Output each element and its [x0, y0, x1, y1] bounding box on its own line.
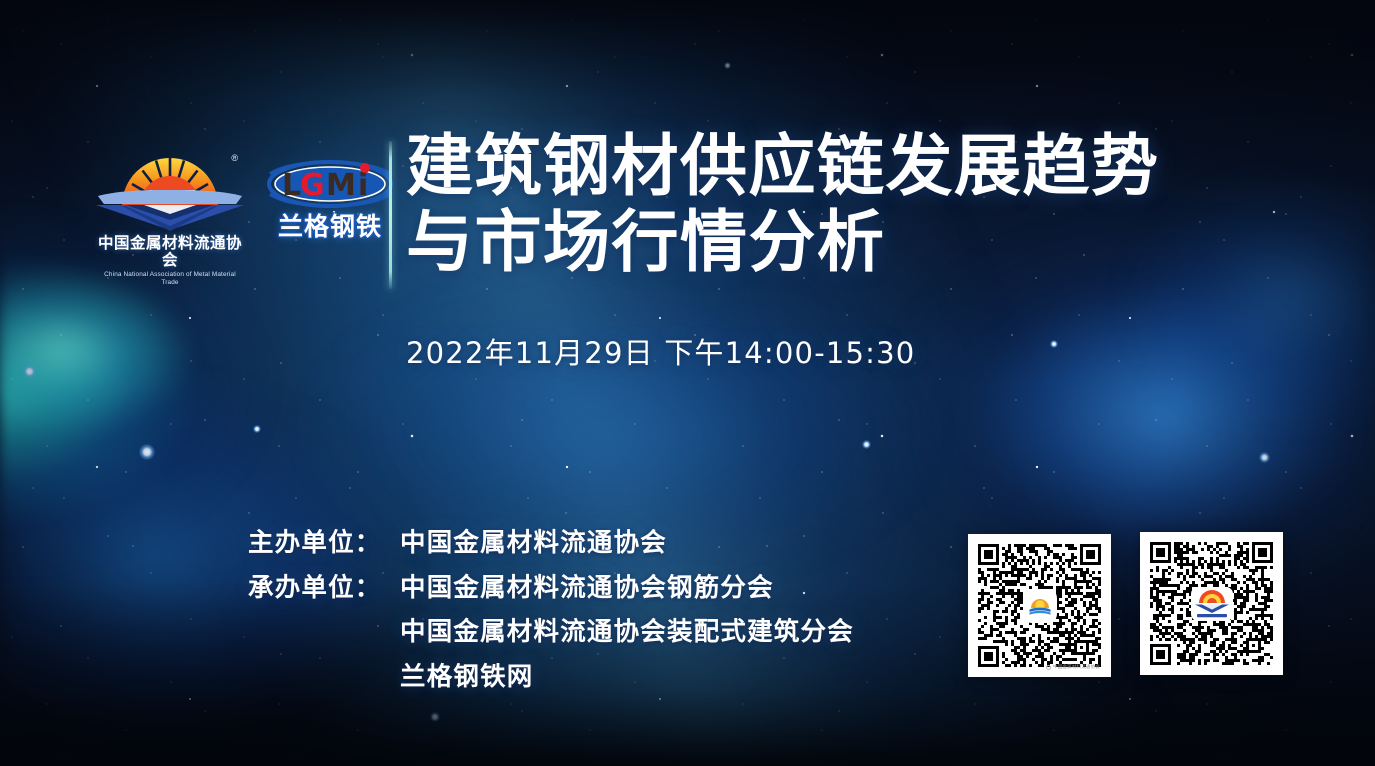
qr-watermark-dot	[1046, 665, 1051, 670]
camt-name-cn: 中国金属材料流通协会	[96, 235, 244, 269]
page-title: 建筑钢材供应链发展趋势 与市场行情分析	[406, 128, 1266, 280]
camt-mark: CAMT ®	[96, 148, 244, 232]
organizer-label: 承办单位：	[248, 566, 400, 611]
organizer-value: 兰格钢铁网	[400, 655, 534, 700]
lgmi-mark: L G M i	[266, 154, 394, 212]
qr-code-left[interactable]: 中国金属材料流通协会	[968, 534, 1111, 677]
svg-text:L: L	[282, 168, 301, 203]
registered-mark: ®	[231, 154, 238, 163]
logo-group: CAMT ® 中国金属材料流通协会 China National Associa…	[96, 148, 394, 288]
event-datetime: 2022年11月29日 下午14:00-15:30	[406, 330, 915, 372]
camt-logo: CAMT ® 中国金属材料流通协会 China National Associa…	[96, 148, 244, 288]
wing-chevron-icon	[96, 190, 244, 232]
lgmi-name-cn: 兰格钢铁	[266, 214, 394, 240]
organizer-value: 中国金属材料流通协会装配式建筑分会	[400, 610, 854, 655]
qr-center-logo-lgmi	[1025, 591, 1055, 621]
qr-center-logo-camt	[1193, 589, 1231, 619]
svg-text:M: M	[326, 168, 356, 203]
svg-text:G: G	[300, 168, 325, 203]
organizer-label: 主办单位：	[248, 521, 400, 566]
camt-icon	[1194, 590, 1230, 618]
organizer-value: 中国金属材料流通协会	[400, 521, 667, 566]
organizer-list: 主办单位： 中国金属材料流通协会 承办单位： 中国金属材料流通协会钢筋分会 中国…	[248, 521, 948, 699]
lgmi-sun-icon	[1028, 594, 1052, 618]
organizer-row: 中国金属材料流通协会装配式建筑分会	[248, 610, 948, 655]
qr-code-right-wrapper[interactable]	[1140, 532, 1283, 675]
qr-code-right[interactable]	[1140, 532, 1283, 675]
qr-watermark: 中国金属材料流通协会	[1046, 664, 1100, 670]
organizer-row: 兰格钢铁网	[248, 655, 948, 700]
qr-watermark-text: 中国金属材料流通协会	[1053, 664, 1100, 670]
title-line-1: 建筑钢材供应链发展趋势	[406, 128, 1266, 204]
event-poster: CAMT ® 中国金属材料流通协会 China National Associa…	[0, 0, 1375, 766]
title-line-2: 与市场行情分析	[406, 204, 1266, 280]
lgmi-logo: L G M i 兰格钢铁	[266, 148, 394, 240]
svg-text:i: i	[358, 168, 368, 203]
lgmi-wordmark-icon: L G M i	[266, 154, 394, 212]
camt-name-en: China National Association of Metal Mate…	[96, 271, 244, 288]
organizer-value: 中国金属材料流通协会钢筋分会	[400, 566, 774, 611]
organizer-row: 主办单位： 中国金属材料流通协会	[248, 521, 948, 566]
qr-code-left-wrapper[interactable]: 中国金属材料流通协会	[968, 534, 1111, 677]
title-divider	[389, 141, 392, 289]
organizer-row: 承办单位： 中国金属材料流通协会钢筋分会	[248, 566, 948, 611]
